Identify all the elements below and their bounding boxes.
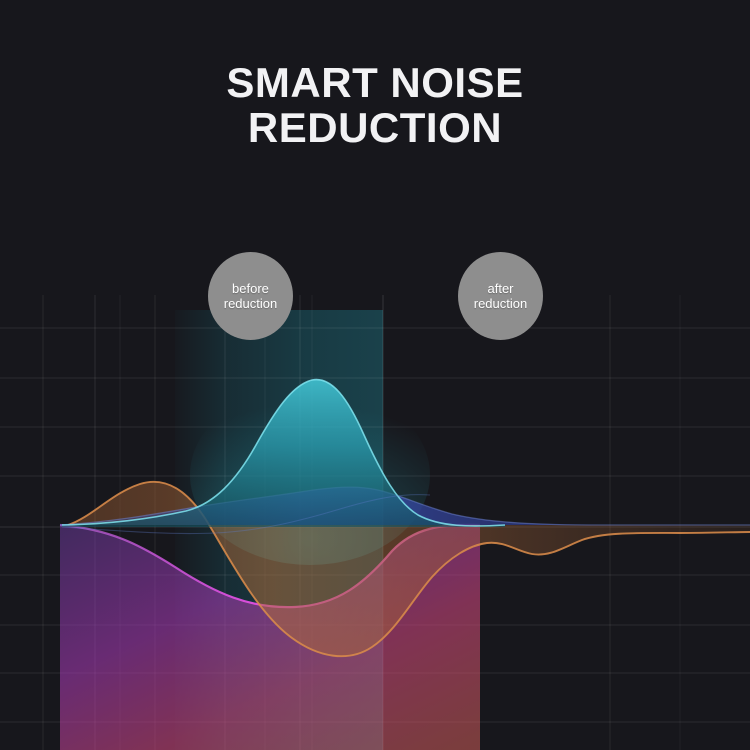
badge-before-reduction[interactable]: before reduction <box>208 252 293 340</box>
title-line-1: SMART NOISE <box>0 60 750 105</box>
waveform-visualizer <box>0 295 750 750</box>
waveform-svg <box>0 295 750 750</box>
page-title: SMART NOISE REDUCTION <box>0 60 750 151</box>
badge-before-reduction-label: before reduction <box>224 281 277 312</box>
noise-reduction-infographic: SMART NOISE REDUCTION before reduction a… <box>0 0 750 750</box>
badge-after-reduction-label: after reduction <box>474 281 527 312</box>
badge-after-reduction[interactable]: after reduction <box>458 252 543 340</box>
title-line-2: REDUCTION <box>0 105 750 150</box>
